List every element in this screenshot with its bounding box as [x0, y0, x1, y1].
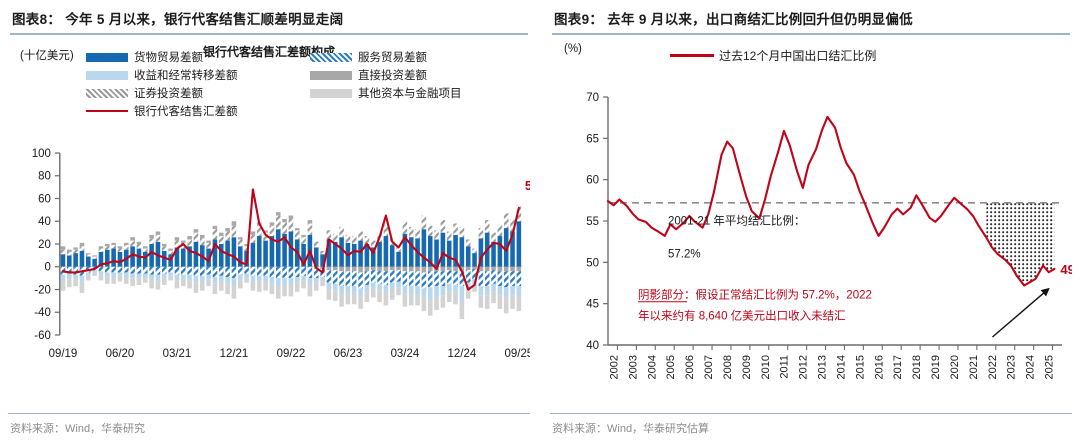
figure-8-footer-rule — [8, 413, 530, 414]
svg-text:2006: 2006 — [684, 355, 696, 379]
svg-text:60: 60 — [38, 193, 51, 205]
svg-text:80: 80 — [38, 171, 51, 183]
svg-text:年以来约有 8,640 亿美元出口收入未结汇: 年以来约有 8,640 亿美元出口收入未结汇 — [638, 308, 846, 322]
svg-text:2021: 2021 — [968, 355, 980, 379]
svg-text:06/23: 06/23 — [334, 348, 363, 360]
svg-text:40: 40 — [586, 340, 599, 352]
svg-text:2009: 2009 — [741, 355, 753, 379]
svg-text:2019: 2019 — [930, 355, 942, 379]
svg-text:2008: 2008 — [722, 355, 734, 379]
svg-text:2024: 2024 — [1025, 355, 1037, 379]
svg-text:50: 50 — [586, 257, 599, 269]
svg-text:2004: 2004 — [646, 355, 658, 379]
figure-8-value-labels: 51.8 — [525, 178, 530, 193]
svg-text:2002: 2002 — [609, 355, 621, 379]
figure-9-shaded-region — [986, 203, 1054, 286]
svg-text:2015: 2015 — [854, 355, 866, 379]
svg-text:45: 45 — [586, 299, 599, 311]
figure-9-source: 资料来源：Wind，华泰研究估算 — [552, 420, 709, 436]
figure-8-chart: (十亿美元) 银行代客结售汇差额构成 货物贸易差额 服务贸易差额 收益和经常转移… — [8, 35, 530, 390]
figure-9-footer-rule — [550, 413, 1072, 414]
svg-text:2018: 2018 — [911, 355, 923, 379]
svg-text:2020: 2020 — [949, 355, 961, 379]
figure-8-plot: -60-40-2002040608010009/1906/2003/2112/2… — [8, 35, 530, 390]
svg-text:2022: 2022 — [987, 355, 999, 379]
svg-text:12/21: 12/21 — [220, 348, 249, 360]
svg-text:2003: 2003 — [627, 355, 639, 379]
svg-text:2023: 2023 — [1006, 355, 1018, 379]
svg-text:-60: -60 — [34, 330, 51, 342]
figure-9-chart: (%) 过去12个月中国出口结汇比例 404550556065702002200… — [550, 35, 1072, 390]
svg-text:2014: 2014 — [836, 355, 848, 379]
svg-text:2017: 2017 — [892, 355, 904, 379]
svg-text:55: 55 — [586, 216, 599, 228]
figure-8-panel: 图表8： 今年 5 月以来，银行代客结售汇顺差明显走阔 (十亿美元) 银行代客结… — [0, 0, 540, 444]
svg-text:-20: -20 — [34, 284, 51, 296]
svg-text:2005: 2005 — [665, 355, 677, 379]
svg-text:09/22: 09/22 — [277, 348, 306, 360]
svg-text:57.2%: 57.2% — [668, 248, 701, 260]
svg-text:20: 20 — [38, 239, 51, 251]
figure-9-title: 图表9： 去年 9 月以来，出口商结汇比例回升但仍明显偏低 — [550, 0, 1072, 33]
svg-text:2025: 2025 — [1044, 355, 1056, 379]
svg-text:03/24: 03/24 — [391, 348, 420, 360]
svg-text:60: 60 — [586, 175, 599, 187]
svg-text:09/19: 09/19 — [49, 348, 78, 360]
report-figures-page: 图表8： 今年 5 月以来，银行代客结售汇顺差明显走阔 (十亿美元) 银行代客结… — [0, 0, 1080, 444]
svg-text:03/21: 03/21 — [163, 348, 192, 360]
figure-8-source: 资料来源：Wind，华泰研究 — [10, 420, 145, 436]
svg-text:2011: 2011 — [779, 355, 791, 379]
svg-text:100: 100 — [32, 148, 51, 160]
figure-8-title: 图表8： 今年 5 月以来，银行代客结售汇顺差明显走阔 — [8, 0, 530, 33]
svg-text:40: 40 — [38, 216, 51, 228]
svg-text:2001-21 年平均结汇比例：: 2001-21 年平均结汇比例： — [668, 213, 805, 227]
figure-9-panel: 图表9： 去年 9 月以来，出口商结汇比例回升但仍明显偏低 (%) 过去12个月… — [540, 0, 1080, 444]
svg-text:12/24: 12/24 — [448, 348, 477, 360]
svg-text:-40: -40 — [34, 307, 51, 319]
figure-9-plot: 4045505560657020022003200420052006200720… — [550, 35, 1072, 390]
svg-text:0: 0 — [44, 262, 50, 274]
svg-text:2012: 2012 — [798, 355, 810, 379]
figure-8-bars — [61, 205, 521, 319]
svg-text:06/20: 06/20 — [106, 348, 135, 360]
svg-text:2013: 2013 — [817, 355, 829, 379]
svg-text:2016: 2016 — [873, 355, 885, 379]
svg-text:阴影部分：假设正常结汇比例为 57.2%，2022: 阴影部分：假设正常结汇比例为 57.2%，2022 — [638, 288, 872, 302]
svg-text:51.8: 51.8 — [525, 178, 530, 193]
svg-text:49.2: 49.2 — [1060, 262, 1072, 277]
svg-text:65: 65 — [586, 133, 599, 145]
svg-text:2007: 2007 — [703, 355, 715, 379]
svg-text:09/25: 09/25 — [505, 348, 530, 360]
svg-text:2010: 2010 — [760, 355, 772, 379]
svg-text:70: 70 — [586, 92, 599, 104]
